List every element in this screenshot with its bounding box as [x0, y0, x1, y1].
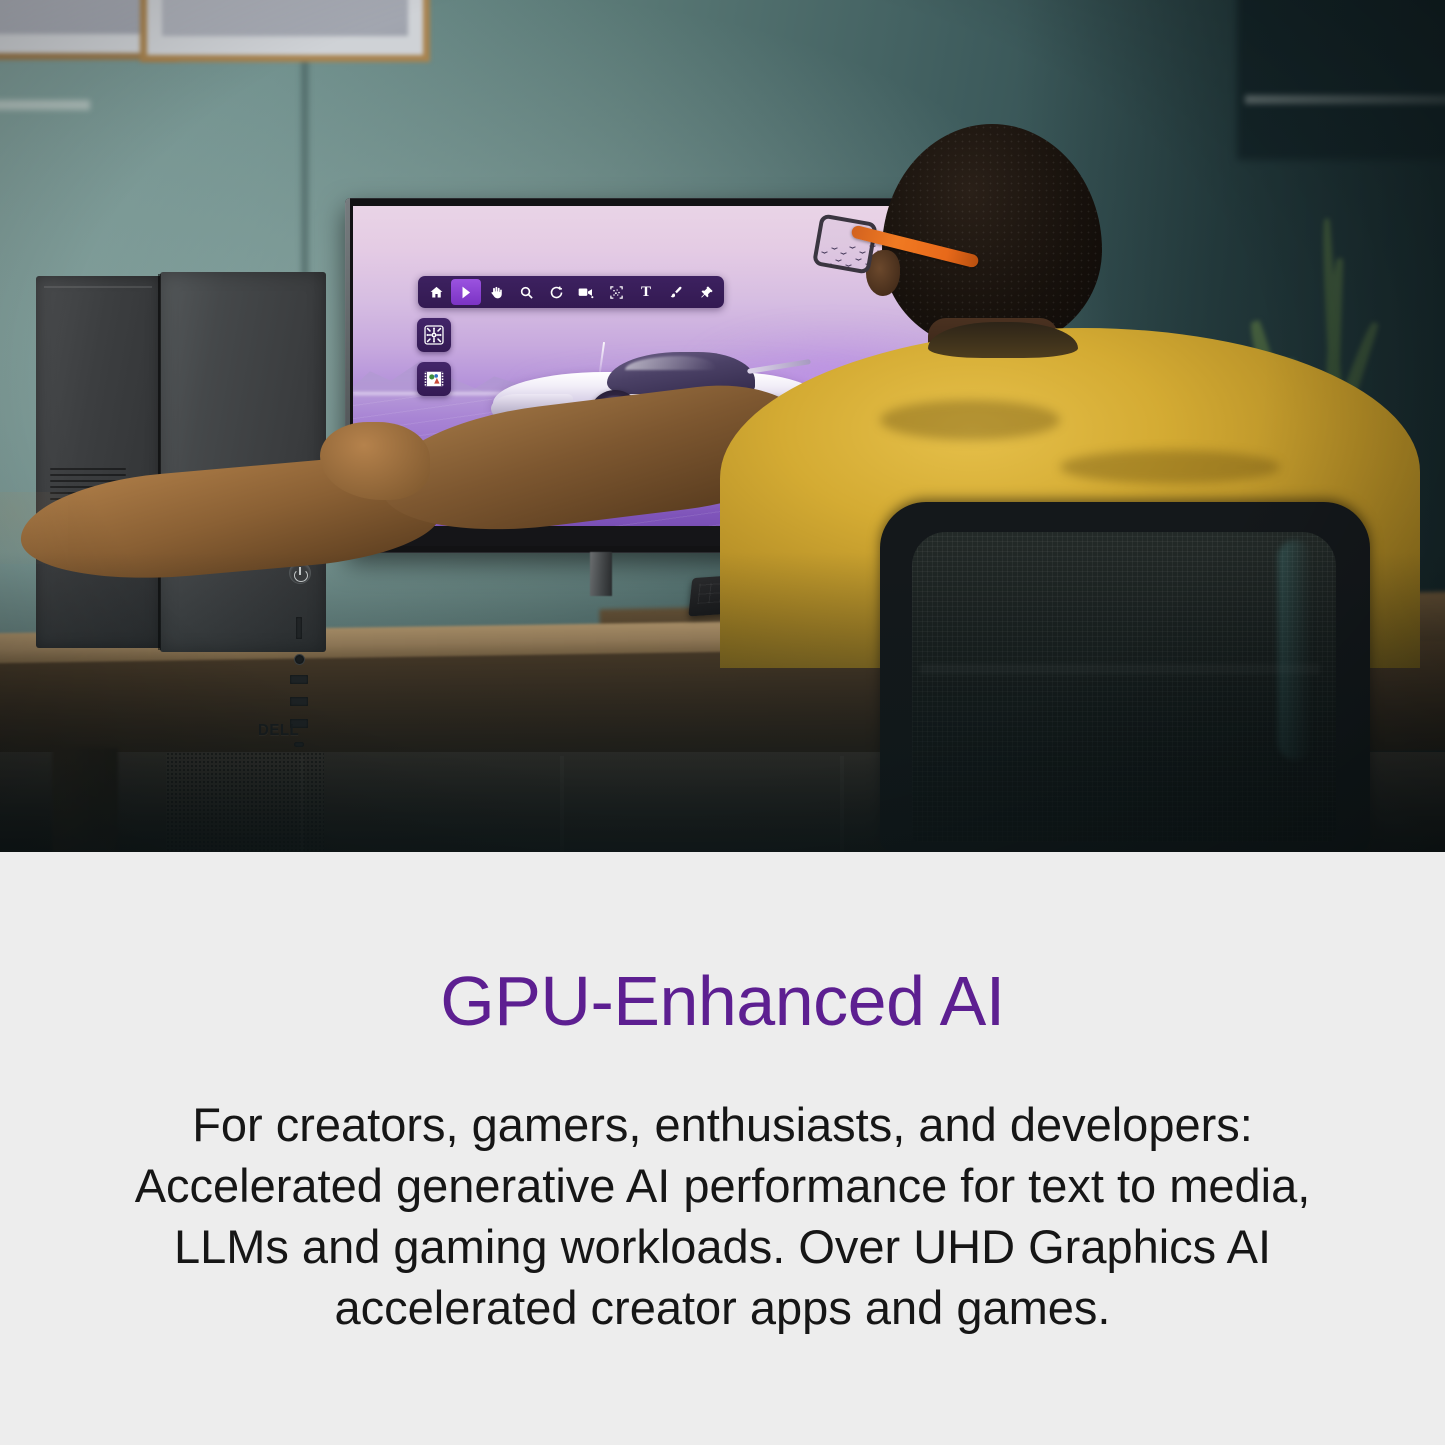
person-head — [882, 124, 1102, 349]
wall-picture-frame-right — [140, 0, 430, 62]
pin-icon[interactable] — [691, 279, 721, 305]
car-antenna — [599, 342, 605, 372]
hero-photo: DELL — [0, 0, 1445, 852]
text-icon[interactable]: T — [631, 279, 661, 305]
photo-bottom-shading — [0, 552, 1445, 852]
hand-icon[interactable] — [481, 279, 511, 305]
wall-shelf — [0, 100, 90, 110]
hair-texture — [882, 124, 1102, 349]
cursor-icon[interactable] — [451, 279, 481, 305]
app-toolbar[interactable]: T — [418, 276, 724, 308]
home-icon[interactable] — [421, 279, 451, 305]
camera-icon[interactable] — [571, 279, 601, 305]
brush-icon[interactable] — [661, 279, 691, 305]
marketing-text-panel: GPU-Enhanced AI For creators, gamers, en… — [0, 852, 1445, 1445]
page-root: DELL — [0, 0, 1445, 1445]
transform-arrows-icon[interactable] — [417, 318, 451, 352]
tower-top-edge — [44, 286, 152, 288]
shirt-fold — [880, 400, 1060, 440]
shirt-fold — [1060, 450, 1280, 484]
rotate-icon[interactable] — [541, 279, 571, 305]
search-icon[interactable] — [511, 279, 541, 305]
page-description: For creators, gamers, enthusiasts, and d… — [93, 1094, 1353, 1338]
text-tool-label: T — [641, 285, 651, 300]
media-film-icon[interactable] — [417, 362, 451, 396]
page-title: GPU-Enhanced AI — [0, 966, 1445, 1036]
frame-artwork — [162, 0, 408, 36]
eyeglasses-lens-icon — [812, 213, 878, 274]
dots-grid-icon[interactable] — [601, 279, 631, 305]
frame-artwork — [0, 0, 156, 34]
